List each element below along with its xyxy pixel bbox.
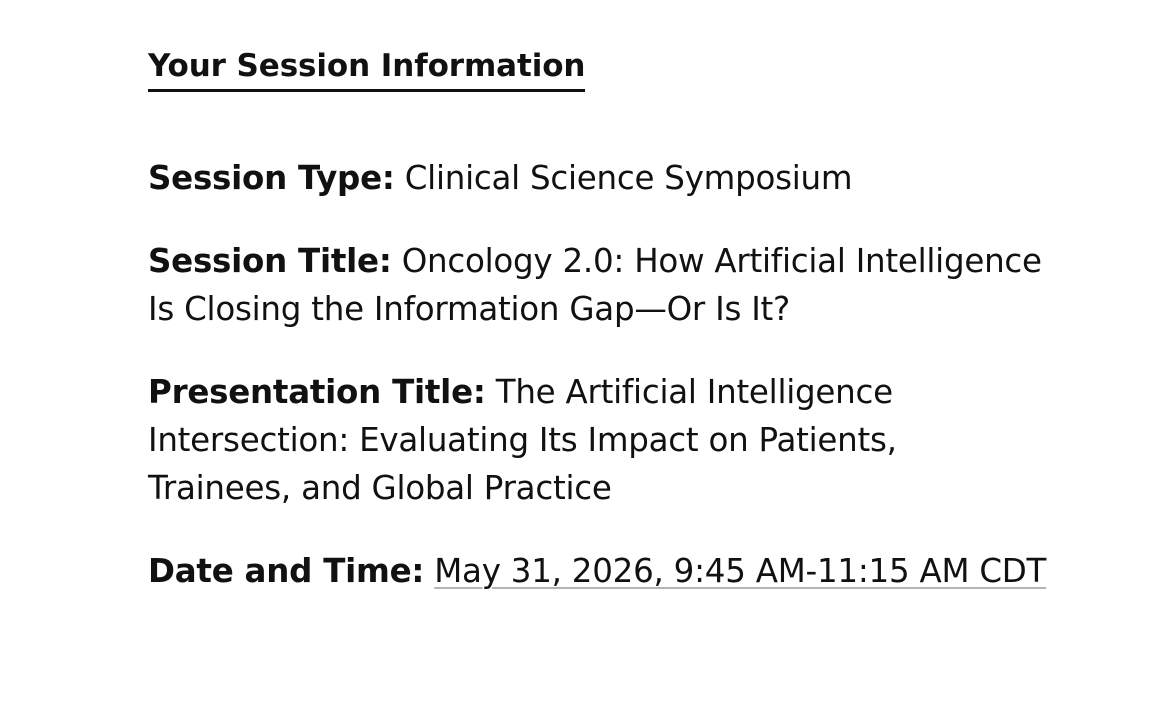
document-page: Your Session Information Session Type: C… bbox=[0, 0, 1170, 726]
field-label-session-type: Session Type: bbox=[148, 159, 395, 197]
page-title: Your Session Information bbox=[148, 44, 585, 92]
field-date-and-time: Date and Time: May 31, 2026, 9:45 AM-11:… bbox=[148, 547, 1048, 595]
field-session-type: Session Type: Clinical Science Symposium bbox=[148, 154, 1048, 202]
field-label-date-and-time: Date and Time: bbox=[148, 552, 424, 590]
field-session-title: Session Title: Oncology 2.0: How Artific… bbox=[148, 237, 1048, 333]
field-label-presentation-title: Presentation Title: bbox=[148, 373, 486, 411]
field-presentation-title: Presentation Title: The Artificial Intel… bbox=[148, 368, 1048, 512]
page-title-row: Your Session Information bbox=[148, 44, 1110, 124]
field-value-session-type: Clinical Science Symposium bbox=[405, 159, 853, 197]
field-value-date-and-time[interactable]: May 31, 2026, 9:45 AM-11:15 AM CDT bbox=[434, 552, 1046, 590]
field-label-session-title: Session Title: bbox=[148, 242, 392, 280]
